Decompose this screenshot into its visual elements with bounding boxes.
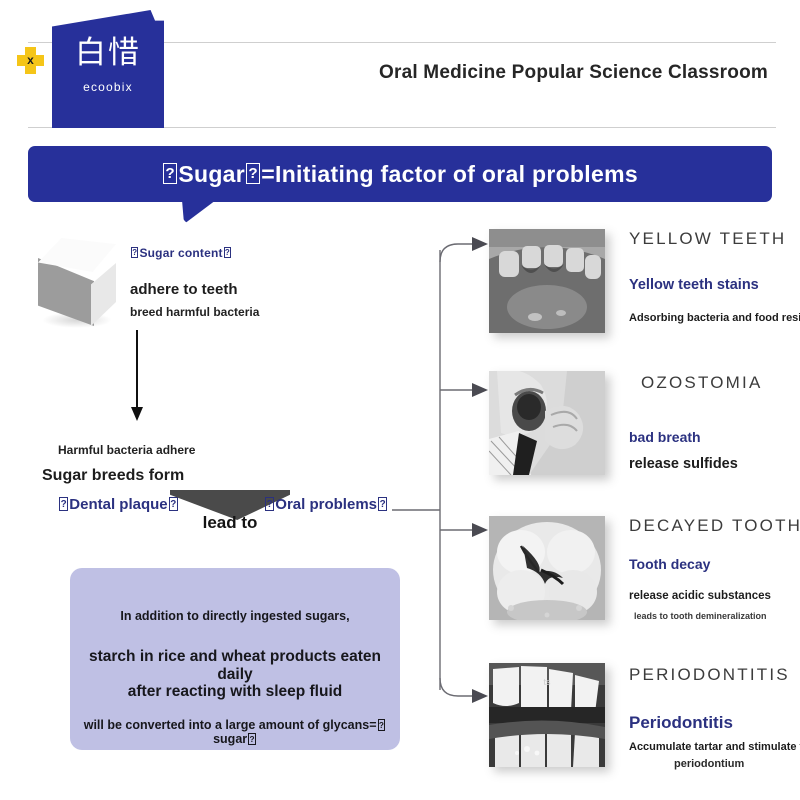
- note-line-2: starch in rice and wheat products eaten …: [70, 648, 400, 684]
- panel-fine-note: periodontium: [674, 758, 744, 770]
- adhere-to-teeth-label: adhere to teeth: [130, 281, 238, 298]
- infographic-page: x 白惜 ecoobix Oral Medicine Popular Scien…: [0, 0, 800, 800]
- brand-logo: 白惜 ecoobix: [52, 10, 164, 128]
- tag-dental-plaque-text: Dental plaque: [69, 496, 167, 513]
- banner-keyword: Sugar: [178, 161, 245, 187]
- sugar-content-label: Sugar content: [130, 246, 232, 260]
- panel-description: release acidic substances: [629, 590, 771, 602]
- svg-text:ts: ts: [543, 677, 551, 687]
- panel-description: Adsorbing bacteria and food residu: [629, 312, 800, 324]
- starch-note-box: In addition to directly ingested sugars,…: [70, 568, 400, 750]
- cross-badge-icon: x: [17, 47, 44, 74]
- note-line-1: In addition to directly ingested sugars,: [70, 609, 400, 623]
- panel-description: release sulfides: [629, 456, 738, 472]
- tag-oral-problems: Oral problems: [264, 496, 388, 513]
- missing-glyph-icon: [246, 163, 260, 184]
- banner-text: Sugar=Initiating factor of oral problems: [162, 161, 638, 188]
- page-title: Oral Medicine Popular Science Classroom: [379, 62, 768, 84]
- panel-title: PERIODONTITIS: [629, 665, 790, 685]
- missing-glyph-icon: [163, 163, 177, 184]
- main-banner: Sugar=Initiating factor of oral problems: [28, 146, 772, 202]
- lead-to-label: lead to: [170, 513, 290, 533]
- sugar-breeds-label: Sugar breeds form: [42, 467, 184, 485]
- panel-periodontitis: ts PERIODONTITIS Periodontitis Accumulat…: [489, 663, 800, 767]
- panel-title: YELLOW TEETH: [629, 229, 786, 249]
- panel-yellow-teeth: YELLOW TEETH Yellow teeth stains Adsorbi…: [489, 229, 800, 333]
- panel-fine-note: leads to tooth demineralization: [634, 611, 767, 621]
- missing-glyph-icon: [248, 733, 256, 745]
- connector-tree: [388, 220, 498, 720]
- panel-title: OZOSTOMIA: [641, 373, 763, 393]
- missing-glyph-icon: [378, 719, 386, 731]
- note-line-4-text: will be converted into a large amount of…: [84, 718, 377, 732]
- periodontitis-photo: ts: [489, 663, 605, 767]
- logo-english-text: ecoobix: [52, 80, 164, 94]
- panel-description: Accumulate tartar and stimulate the: [629, 741, 800, 753]
- note-line-3: after reacting with sleep fluid: [70, 683, 400, 701]
- note-line-4: will be converted into a large amount of…: [70, 718, 400, 746]
- yellow-teeth-photo: [489, 229, 605, 333]
- missing-glyph-icon: [224, 247, 231, 258]
- sugar-content-text: Sugar content: [139, 246, 222, 260]
- panel-subtitle: Periodontitis: [629, 713, 733, 733]
- missing-glyph-icon: [131, 247, 138, 258]
- logo-chinese-text: 白惜: [52, 36, 164, 70]
- panel-ozostomia: OZOSTOMIA bad breath release sulfides: [489, 371, 800, 475]
- tag-oral-problems-text: Oral problems: [275, 496, 377, 513]
- panel-decayed-tooth: DECAYED TOOTH Tooth decay release acidic…: [489, 516, 800, 620]
- panel-subtitle: bad breath: [629, 429, 701, 445]
- missing-glyph-icon: [265, 497, 274, 511]
- tag-dental-plaque: Dental plaque: [58, 496, 179, 513]
- banner-tail: [182, 200, 216, 224]
- panel-subtitle: Tooth decay: [629, 556, 710, 572]
- badge-glyph: x: [17, 47, 44, 74]
- decayed-tooth-photo: [489, 516, 605, 620]
- breed-bacteria-label: breed harmful bacteria: [130, 305, 259, 319]
- note-line-4-token: sugar: [213, 732, 247, 746]
- missing-glyph-icon: [59, 497, 68, 511]
- harmful-bacteria-label: Harmful bacteria adhere: [58, 443, 195, 457]
- down-arrow-icon: [128, 330, 146, 422]
- missing-glyph-icon: [378, 497, 387, 511]
- panel-subtitle: Yellow teeth stains: [629, 277, 759, 293]
- sugar-cube-icon: [38, 238, 116, 328]
- panel-title: DECAYED TOOTH: [629, 516, 800, 536]
- banner-suffix: =Initiating factor of oral problems: [261, 161, 638, 187]
- bad-breath-photo: [489, 371, 605, 475]
